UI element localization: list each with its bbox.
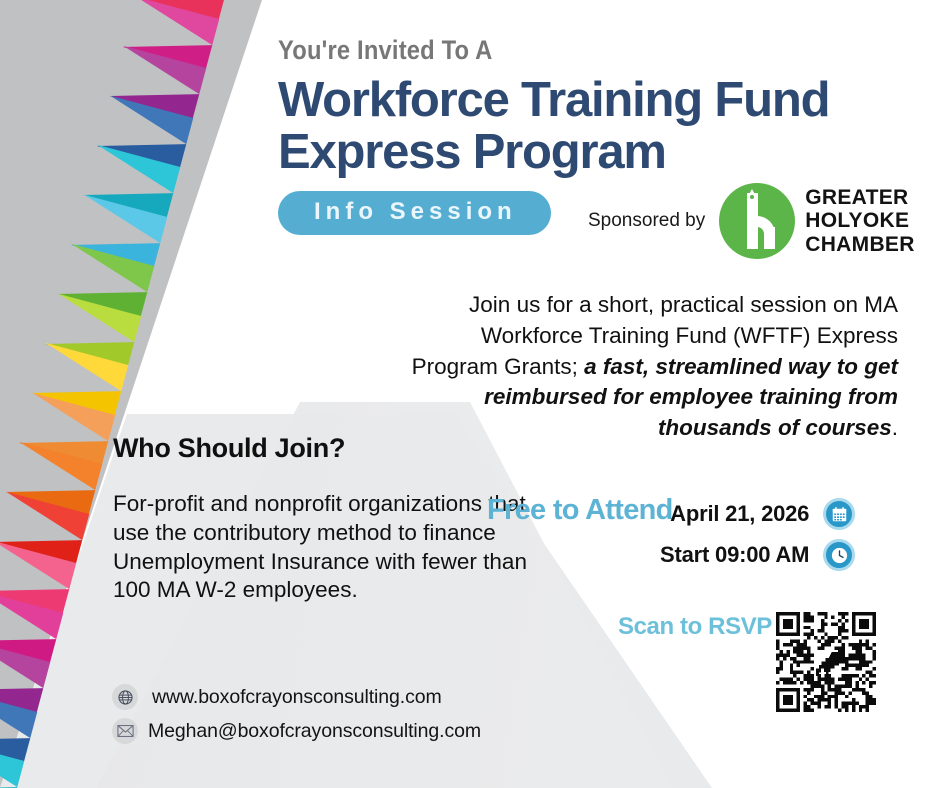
sponsor-logo-text: GREATER HOLYOKE CHAMBER xyxy=(805,186,914,257)
calendar-icon xyxy=(823,498,855,530)
sponsored-by-label: Sponsored by xyxy=(588,210,705,232)
event-time-row: Start 09:00 AM xyxy=(660,539,855,571)
event-detail-rows: April 21, 2026 xyxy=(660,498,855,580)
info-session-badge: Info Session xyxy=(278,191,551,235)
intro-trailing: . xyxy=(892,415,898,440)
intro-paragraph: Join us for a short, practical session o… xyxy=(408,290,898,444)
sponsor-block: Sponsored by GREATER HOLYOKE CHAMBER xyxy=(588,183,915,259)
greater-holyoke-chamber-h-logo-icon xyxy=(719,183,795,259)
event-date-row: April 21, 2026 xyxy=(660,498,855,530)
title-line-2: Express Program xyxy=(278,128,918,177)
website-text: www.boxofcrayonsconsulting.com xyxy=(152,686,442,709)
who-should-join-body: For-profit and nonprofit organizations t… xyxy=(113,490,533,605)
sponsor-name-line-2: HOLYOKE xyxy=(805,209,914,233)
poster-canvas: You're Invited To A Workforce Training F… xyxy=(0,0,940,788)
event-date-text: April 21, 2026 xyxy=(670,501,809,527)
globe-icon xyxy=(112,684,138,710)
email-row[interactable]: Meghan@boxofcrayonsconsulting.com xyxy=(112,718,481,744)
free-to-attend-label: Free to Attend xyxy=(487,494,673,527)
invite-kicker: You're Invited To A xyxy=(278,36,841,66)
title-line-1: Workforce Training Fund xyxy=(278,73,829,127)
website-row[interactable]: www.boxofcrayonsconsulting.com xyxy=(112,684,481,710)
sponsor-name-line-3: CHAMBER xyxy=(805,233,914,257)
event-time-text: Start 09:00 AM xyxy=(660,542,809,568)
page-title: Workforce Training Fund Express Program xyxy=(278,76,918,177)
qr-code[interactable] xyxy=(776,612,876,712)
contact-block: www.boxofcrayonsconsulting.com Meghan@bo… xyxy=(112,684,481,752)
who-should-join-heading: Who Should Join? xyxy=(113,433,345,464)
envelope-icon xyxy=(112,718,138,744)
scan-to-rsvp-label: Scan to RSVP xyxy=(618,613,772,641)
email-text: Meghan@boxofcrayonsconsulting.com xyxy=(148,720,481,743)
clock-icon xyxy=(823,539,855,571)
sponsor-name-line-1: GREATER xyxy=(805,186,914,210)
